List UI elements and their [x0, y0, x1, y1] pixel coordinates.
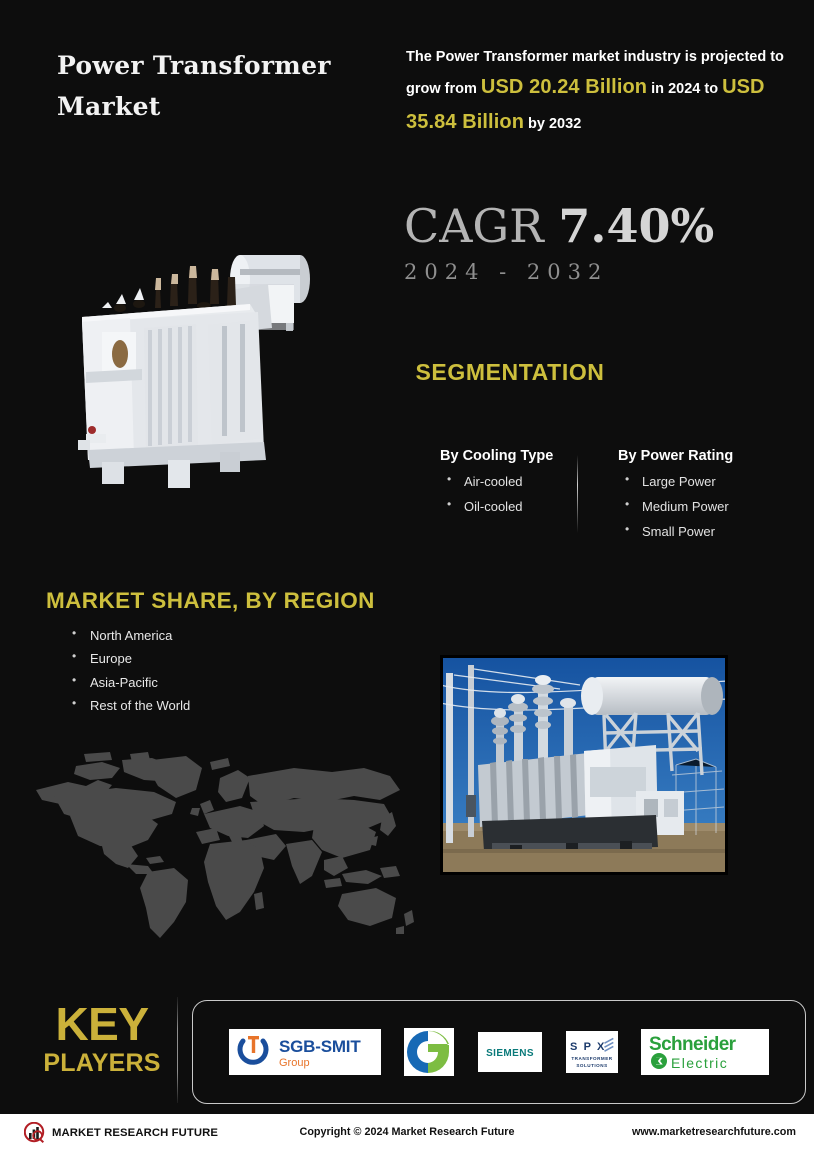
cagr-headline: CAGR 7.40%: [404, 203, 714, 249]
market-projection-text: The Power Transformer market industry is…: [406, 45, 786, 140]
key-players-logo-container: SGB-SMIT Group SIEMENS S P X: [192, 1000, 806, 1104]
projection-value-2024: USD 20.24 Billion: [481, 76, 647, 98]
infographic-page: Power Transformer Market The Power Trans…: [0, 0, 814, 1150]
svg-text:TRANSFORMER: TRANSFORMER: [571, 1056, 612, 1061]
segmentation-columns: By Cooling Type Air-cooled Oil-cooled By…: [440, 448, 780, 550]
cagr-period: 2024 - 2032: [404, 260, 608, 284]
schneider-s-icon: [651, 1053, 667, 1069]
segmentation-column-cooling-type: By Cooling Type Air-cooled Oil-cooled: [440, 448, 600, 550]
projection-in-2024: in 2024: [651, 81, 700, 97]
svg-text:Group: Group: [279, 1057, 310, 1069]
segmentation-item: Oil-cooled: [440, 500, 600, 513]
region-item: Europe: [66, 652, 190, 666]
logo-card-cg[interactable]: [404, 1028, 454, 1076]
u-t-circle-icon: [240, 1036, 266, 1062]
logo-card-schneider-electric[interactable]: Schneider Electric: [641, 1029, 769, 1075]
svg-text:SOLUTIONS: SOLUTIONS: [576, 1063, 607, 1068]
svg-text:SIEMENS: SIEMENS: [486, 1048, 534, 1059]
svg-text:S P X: S P X: [570, 1041, 606, 1053]
svg-text:Electric: Electric: [671, 1055, 728, 1071]
segmentation-item: Medium Power: [618, 500, 778, 513]
projection-lead: The Power Transformer market industry is…: [406, 49, 784, 65]
market-share-region-list: North America Europe Asia-Pacific Rest o…: [66, 629, 190, 722]
page-title: Power Transformer Market: [57, 46, 357, 127]
segmentation-item: Air-cooled: [440, 475, 600, 488]
logo-card-sgb-smit[interactable]: SGB-SMIT Group: [229, 1029, 381, 1075]
projection-grow-from: grow from: [406, 81, 477, 97]
key-players-line2: PLAYERS: [32, 1047, 172, 1081]
segmentation-title: SEGMENTATION: [0, 359, 814, 386]
footer-website[interactable]: www.marketresearchfuture.com: [632, 1126, 796, 1138]
region-item: North America: [66, 629, 190, 643]
projection-by-2032: by 2032: [528, 116, 581, 132]
svg-text:SGB-SMIT: SGB-SMIT: [279, 1037, 361, 1056]
cagr-label: CAGR: [404, 199, 544, 253]
projection-to: to: [704, 81, 718, 97]
market-share-title: MARKET SHARE, BY REGION: [46, 588, 375, 614]
logo-card-spx-transformer-solutions[interactable]: S P X TRANSFORMER SOLUTIONS: [566, 1031, 618, 1073]
key-players-label: KEY PLAYERS: [32, 1002, 172, 1081]
segmentation-heading: By Cooling Type: [440, 448, 600, 464]
svg-text:Schneider: Schneider: [649, 1034, 737, 1055]
cagr-value: 7.40%: [558, 199, 714, 253]
world-map: [24, 752, 424, 942]
segmentation-item: Small Power: [618, 525, 778, 538]
substation-photo: [440, 655, 728, 875]
region-item: Rest of the World: [66, 699, 190, 713]
footer-bar: MARKET RESEARCH FUTURE Copyright © 2024 …: [0, 1114, 814, 1150]
cg-monogram-icon: [407, 1031, 449, 1073]
logo-card-siemens[interactable]: SIEMENS: [478, 1032, 542, 1072]
key-players-divider: [177, 997, 178, 1103]
segmentation-column-power-rating: By Power Rating Large Power Medium Power…: [600, 448, 778, 550]
key-players-line1: KEY: [32, 1002, 172, 1047]
segmentation-item: Large Power: [618, 475, 778, 488]
segmentation-heading: By Power Rating: [618, 448, 778, 464]
region-item: Asia-Pacific: [66, 676, 190, 690]
